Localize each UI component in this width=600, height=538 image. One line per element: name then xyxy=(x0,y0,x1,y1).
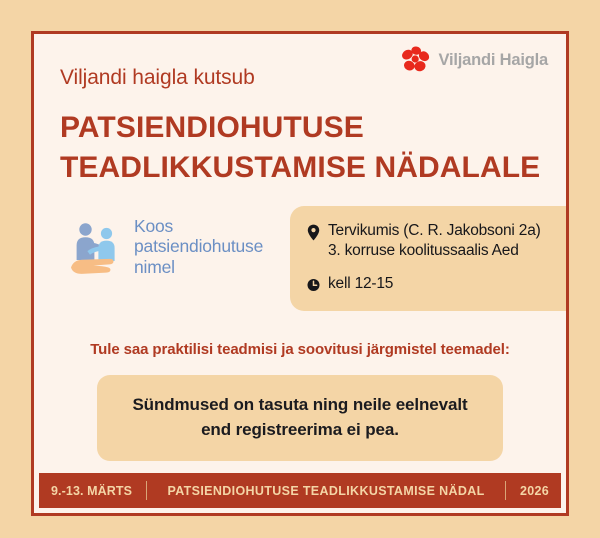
message-line-1: Sündmused on tasuta ning neile eelnevalt xyxy=(117,392,483,418)
info-item-location: Tervikumis (C. R. Jakobsoni 2a) 3. korru… xyxy=(307,221,552,262)
mid-row: Koos patsiendiohutuse nimel Tervikumis (… xyxy=(34,206,566,311)
koos-line-3: nimel xyxy=(134,257,175,277)
location-pin-icon xyxy=(307,224,320,241)
poster-root: Viljandi Haigla Viljandi haigla kutsub P… xyxy=(0,0,600,538)
footer-dates: 9.-13. MÄRTS xyxy=(51,484,132,498)
poster-header: Viljandi Haigla Viljandi haigla kutsub xyxy=(34,34,566,106)
koos-logo-text: Koos patsiendiohutuse nimel xyxy=(134,216,263,278)
info-location-line-1: Tervikumis (C. R. Jakobsoni 2a) xyxy=(328,222,541,239)
info-item-time: kell 12-15 xyxy=(307,274,552,295)
subtitle-text: Tule saa praktilisi teadmisi ja soovitus… xyxy=(34,341,566,358)
title-line-2: TEADLIKKUSTAMISE NÄDALALE xyxy=(60,148,540,188)
footer-divider-right xyxy=(505,481,506,500)
flower-petals-icon xyxy=(398,45,432,75)
footer-campaign-name: PATSIENDIOHUTUSE TEADLIKKUSTAMISE NÄDAL xyxy=(161,484,491,498)
two-people-on-hand-icon xyxy=(68,216,130,278)
koos-line-1: Koos xyxy=(134,216,173,236)
koos-patsiendiohutuse-logo: Koos patsiendiohutuse nimel xyxy=(48,206,263,278)
poster-frame: Viljandi Haigla Viljandi haigla kutsub P… xyxy=(31,31,569,516)
message-line-2: end registreerima ei pea. xyxy=(117,417,483,443)
page-title: PATSIENDIOHUTUSE TEADLIKKUSTAMISE NÄDALA… xyxy=(34,108,566,188)
brand-name-label: Viljandi Haigla xyxy=(439,51,548,70)
poster-footer: 9.-13. MÄRTS PATSIENDIOHUTUSE TEADLIKKUS… xyxy=(39,473,561,508)
title-line-1: PATSIENDIOHUTUSE xyxy=(60,108,540,148)
footer-divider-left xyxy=(146,481,147,500)
info-time-text: kell 12-15 xyxy=(328,274,393,295)
viljandi-haigla-brand: Viljandi Haigla xyxy=(398,45,548,75)
content-spacer xyxy=(34,461,566,473)
koos-line-2: patsiendiohutuse xyxy=(134,236,263,256)
clock-icon xyxy=(307,277,320,294)
kicker-text: Viljandi haigla kutsub xyxy=(60,66,255,90)
footer-year: 2026 xyxy=(520,484,549,498)
message-box: Sündmused on tasuta ning neile eelnevalt… xyxy=(97,375,503,461)
event-details-box: Tervikumis (C. R. Jakobsoni 2a) 3. korru… xyxy=(290,206,566,311)
info-location-line-2: 3. korruse koolitussaalis Aed xyxy=(328,242,519,259)
info-location-text: Tervikumis (C. R. Jakobsoni 2a) 3. korru… xyxy=(328,221,541,262)
